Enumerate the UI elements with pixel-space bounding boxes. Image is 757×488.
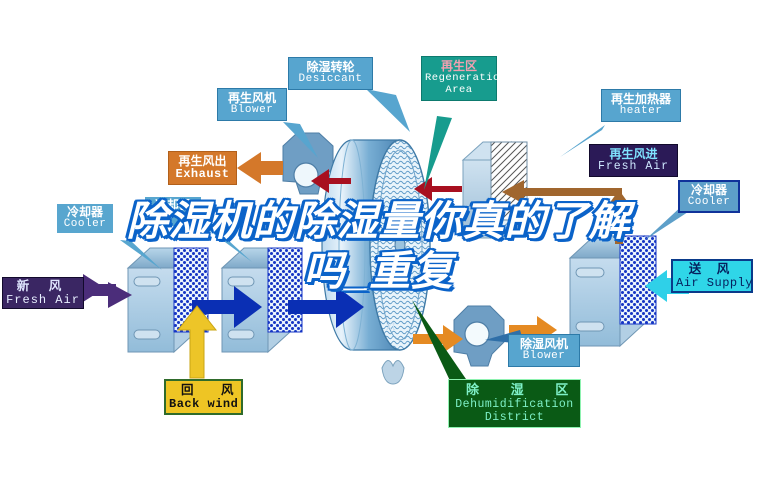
cooler-coil-right bbox=[570, 236, 656, 346]
label-cooler-mid: 冷却器 Cooler bbox=[144, 196, 202, 227]
label-regen-blower: 再生风机 Blower bbox=[217, 88, 287, 121]
label-desiccant-wheel-en: Desiccant bbox=[293, 74, 368, 86]
label-cooler-mid-en: Cooler bbox=[148, 212, 198, 224]
label-desiccant-wheel: 除湿转轮 Desiccant bbox=[288, 57, 373, 90]
label-cooler-left-cn: 冷却器 bbox=[60, 206, 110, 219]
label-cooler-right-en: Cooler bbox=[683, 197, 735, 209]
label-regen-air-in-cn: 再生风进 bbox=[594, 148, 673, 161]
label-regeneration-area: 再生区 Regeneration Area bbox=[421, 56, 497, 101]
arrow-exhaust bbox=[237, 152, 283, 184]
label-fresh-air-in: 新 风 Fresh Air bbox=[2, 277, 84, 309]
label-regen-heater-en: heater bbox=[606, 106, 676, 118]
label-cooler-mid-cn: 冷却器 bbox=[148, 199, 198, 212]
label-regen-heater-cn: 再生加热器 bbox=[606, 93, 676, 106]
label-process-blower-cn: 除湿风机 bbox=[513, 338, 575, 351]
label-fresh-air-in-en: Fresh Air bbox=[6, 294, 80, 307]
label-cooler-right: 冷却器 Cooler bbox=[678, 180, 740, 213]
label-desiccant-wheel-cn: 除湿转轮 bbox=[293, 61, 368, 74]
label-exhaust-cn: 再生风出 bbox=[173, 155, 232, 168]
label-back-wind-en: Back wind bbox=[169, 398, 238, 411]
label-cooler-left-en: Cooler bbox=[60, 219, 110, 231]
label-regeneration-area-en: Regeneration Area bbox=[425, 73, 493, 97]
label-regen-blower-cn: 再生风机 bbox=[222, 92, 282, 105]
arrow-regen-fresh-horizontal bbox=[502, 180, 622, 204]
label-cooler-right-cn: 冷却器 bbox=[683, 184, 735, 197]
label-air-supply-en: Air Supply bbox=[676, 277, 748, 290]
desiccant-rotor bbox=[322, 140, 430, 384]
label-dehumidification-district-en: Dehumidification District bbox=[452, 398, 577, 424]
label-air-supply: 送 风 Air Supply bbox=[671, 259, 753, 293]
label-exhaust: 再生风出 Exhaust bbox=[168, 151, 237, 185]
label-regen-blower-en: Blower bbox=[222, 105, 282, 117]
label-back-wind: 回 风 Back wind bbox=[164, 379, 243, 415]
diagram-canvas: xt 除湿转轮 Desiccant 再生风机 Blower 再生区 Regene… bbox=[0, 0, 757, 488]
arrow-fresh-air-in bbox=[83, 274, 132, 308]
schematic-artwork: xt bbox=[0, 0, 757, 488]
label-regeneration-area-cn: 再生区 bbox=[425, 60, 493, 73]
label-dehumidification-district: 除 湿 区 Dehumidification District bbox=[448, 379, 581, 428]
label-regen-air-in-en: Fresh Air bbox=[594, 161, 673, 173]
label-regen-heater: 再生加热器 heater bbox=[601, 89, 681, 122]
label-fresh-air-in-cn: 新 风 bbox=[6, 280, 80, 294]
label-regen-air-in: 再生风进 Fresh Air bbox=[589, 144, 678, 177]
label-process-blower-en: Blower bbox=[513, 351, 575, 363]
label-cooler-left: 冷却器 Cooler bbox=[56, 203, 114, 234]
artwork-watermark: xt bbox=[386, 319, 396, 333]
label-process-blower: 除湿风机 Blower bbox=[508, 334, 580, 367]
label-back-wind-cn: 回 风 bbox=[169, 384, 238, 398]
label-dehumidification-district-cn: 除 湿 区 bbox=[452, 383, 577, 398]
process-blower-shape bbox=[454, 306, 504, 366]
label-air-supply-cn: 送 风 bbox=[676, 263, 748, 277]
label-exhaust-en: Exhaust bbox=[173, 168, 232, 181]
